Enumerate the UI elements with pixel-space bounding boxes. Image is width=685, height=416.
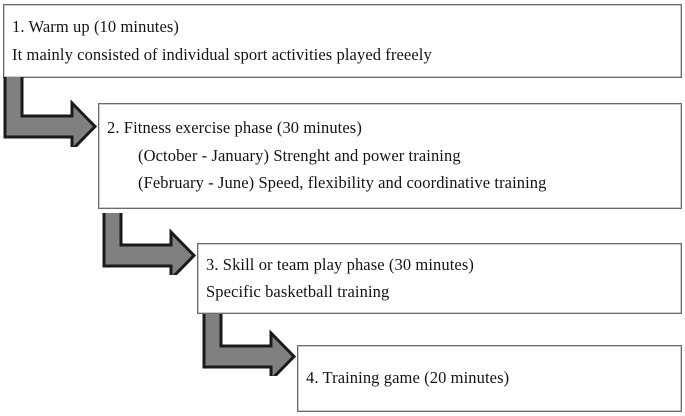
box-2-line-1: 2. Fitness exercise phase (30 minutes) [107,120,681,137]
box-3-line-2: Specific basketball training [206,284,681,301]
box-1-line-1: 1. Warm up (10 minutes) [12,19,681,36]
box-3-line-1: 3. Skill or team play phase (30 minutes) [206,257,681,274]
flowchart-canvas: 1. Warm up (10 minutes) It mainly consis… [0,0,685,416]
flow-box-step-1: 1. Warm up (10 minutes) It mainly consis… [3,4,682,78]
elbow-arrow-right-icon [101,213,197,275]
elbow-arrow-right-icon [2,77,98,147]
elbow-arrow-right-icon [201,314,297,376]
box-1-line-2: It mainly consisted of individual sport … [12,47,681,64]
box-2-line-2: (October - January) Strenght and power t… [107,148,681,165]
box-4-line-1: 4. Training game (20 minutes) [306,370,681,387]
flow-box-step-2: 2. Fitness exercise phase (30 minutes) (… [98,103,682,209]
box-2-line-3: (February - June) Speed, flexibility and… [107,175,681,192]
flow-box-step-4: 4. Training game (20 minutes) [297,345,682,412]
flow-box-step-3: 3. Skill or team play phase (30 minutes)… [197,243,682,314]
